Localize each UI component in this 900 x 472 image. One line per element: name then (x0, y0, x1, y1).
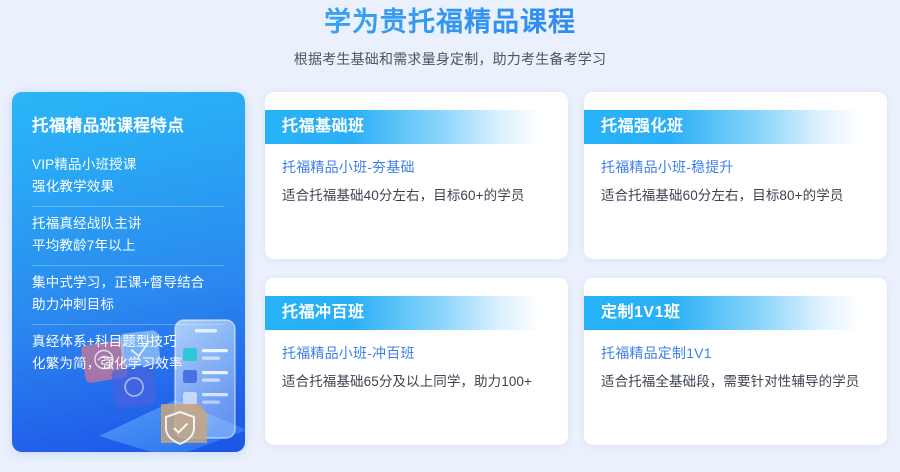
shield-icon (161, 404, 207, 444)
feature-item: 真经体系+科目题型技巧 化繁为简，强化学习效率 (32, 324, 225, 383)
feature-line: 集中式学习，正课+督导结合 (32, 272, 225, 294)
course-card-body: 托福精品定制1V1 适合托福全基础段，需要针对性辅导的学员 (601, 341, 873, 394)
course-card-dingzhi-1v1[interactable]: 定制1V1班 托福精品定制1V1 适合托福全基础段，需要针对性辅导的学员 (584, 278, 887, 445)
course-card-tuofu-qianghua[interactable]: 托福强化班 托福精品小班-稳提升 适合托福基础60分左右，目标80+的学员 (584, 92, 887, 259)
course-card-ribbon: 定制1V1班 (584, 296, 874, 330)
feature-line: 化繁为简，强化学习效率 (32, 353, 225, 375)
course-card-tuofu-chongbai[interactable]: 托福冲百班 托福精品小班-冲百班 适合托福基础65分及以上同学，助力100+ (265, 278, 568, 445)
course-card-ribbon: 托福强化班 (584, 110, 874, 144)
feature-line: VIP精品小班授课 (32, 154, 225, 176)
course-card-subtitle: 托福精品小班-稳提升 (601, 155, 873, 179)
promo-page: 学为贵托福精品课程 根据考生基础和需求量身定制，助力考生备考学习 (0, 0, 900, 472)
course-card-title: 定制1V1班 (584, 302, 680, 324)
course-card-title: 托福冲百班 (265, 302, 365, 324)
course-features-panel: 托福精品班课程特点 VIP精品小班授课 强化教学效果 托福真经战队主讲 平均教龄… (12, 92, 245, 452)
course-card-body: 托福精品小班-夯基础 适合托福基础40分左右，目标60+的学员 (282, 155, 554, 208)
course-card-description: 适合托福基础40分左右，目标60+的学员 (282, 184, 554, 208)
course-card-description: 适合托福基础65分及以上同学，助力100+ (282, 370, 554, 394)
course-card-description: 适合托福基础60分左右，目标80+的学员 (601, 184, 873, 208)
course-card-description: 适合托福全基础段，需要针对性辅导的学员 (601, 370, 873, 394)
course-card-grid: 托福基础班 托福精品小班-夯基础 适合托福基础40分左右，目标60+的学员 托福… (265, 92, 887, 454)
course-card-title: 托福基础班 (265, 116, 365, 138)
feature-line: 托福真经战队主讲 (32, 213, 225, 235)
course-card-subtitle: 托福精品小班-夯基础 (282, 155, 554, 179)
feature-item: VIP精品小班授课 强化教学效果 (32, 147, 225, 206)
course-card-ribbon: 托福基础班 (265, 110, 555, 144)
course-card-subtitle: 托福精品定制1V1 (601, 341, 873, 365)
feature-item: 集中式学习，正课+督导结合 助力冲刺目标 (32, 265, 225, 324)
course-card-subtitle: 托福精品小班-冲百班 (282, 341, 554, 365)
course-card-tuofu-jichu[interactable]: 托福基础班 托福精品小班-夯基础 适合托福基础40分左右，目标60+的学员 (265, 92, 568, 259)
content-area: 托福精品班课程特点 VIP精品小班授课 强化教学效果 托福真经战队主讲 平均教龄… (0, 92, 900, 454)
course-card-body: 托福精品小班-冲百班 适合托福基础65分及以上同学，助力100+ (282, 341, 554, 394)
course-card-body: 托福精品小班-稳提升 适合托福基础60分左右，目标80+的学员 (601, 155, 873, 208)
feature-line: 助力冲刺目标 (32, 294, 225, 316)
page-title: 学为贵托福精品课程 (0, 4, 900, 40)
feature-panel-inner: 托福精品班课程特点 VIP精品小班授课 强化教学效果 托福真经战队主讲 平均教龄… (12, 92, 245, 383)
feature-line: 强化教学效果 (32, 176, 225, 198)
feature-line: 平均教龄7年以上 (32, 235, 225, 257)
feature-line: 真经体系+科目题型技巧 (32, 331, 225, 353)
course-card-title: 托福强化班 (584, 116, 684, 138)
page-header: 学为贵托福精品课程 根据考生基础和需求量身定制，助力考生备考学习 (0, 4, 900, 69)
course-card-ribbon: 托福冲百班 (265, 296, 555, 330)
page-subtitle: 根据考生基础和需求量身定制，助力考生备考学习 (0, 49, 900, 69)
feature-panel-title: 托福精品班课程特点 (32, 114, 225, 138)
feature-item: 托福真经战队主讲 平均教龄7年以上 (32, 206, 225, 265)
